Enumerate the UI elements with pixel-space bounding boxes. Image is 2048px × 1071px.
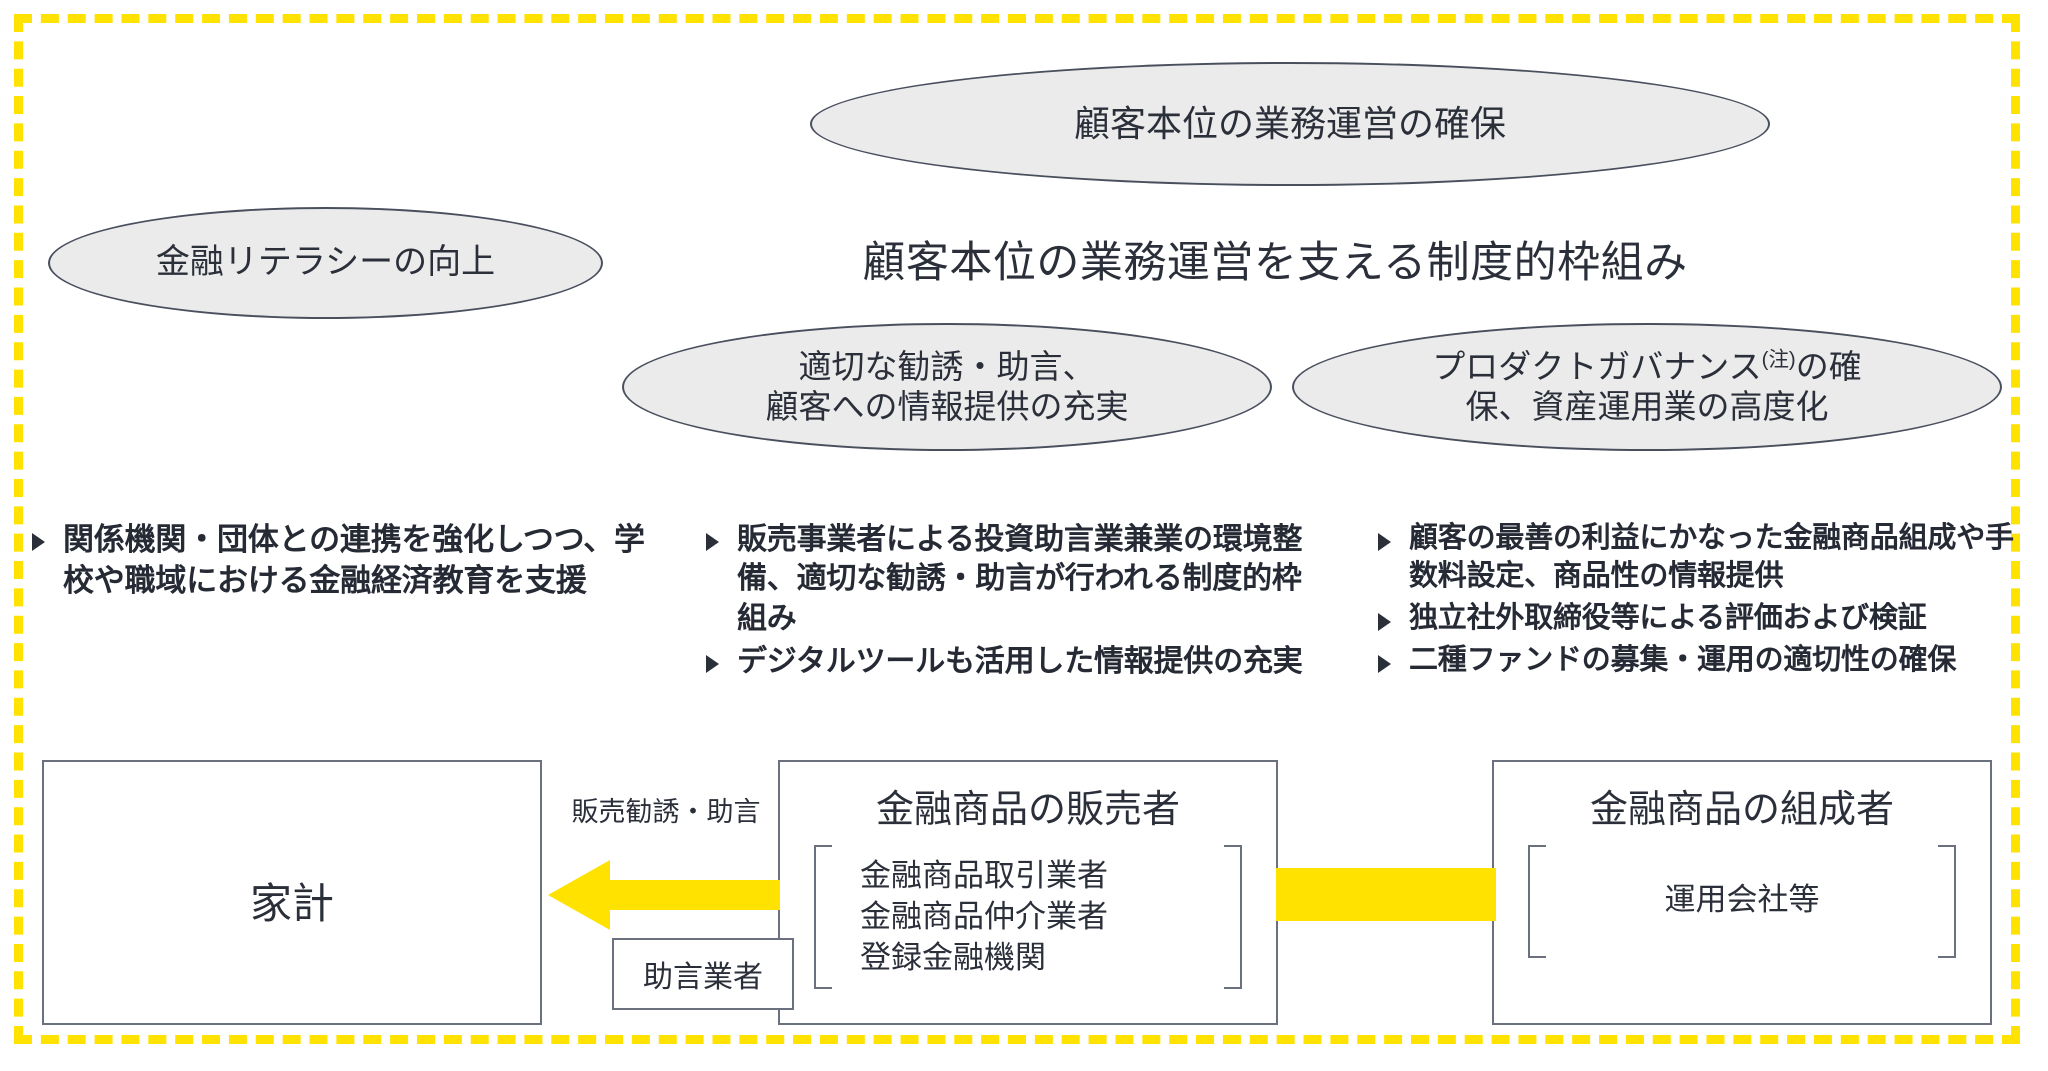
seller-entity-list: 金融商品取引業者 金融商品仲介業者 登録金融機関	[814, 855, 1242, 979]
list-item: 金融商品取引業者	[860, 855, 1242, 896]
ellipse-governance-line2: 保、資産運用業の高度化	[1466, 388, 1829, 425]
box-advisory-firm: 助言業者	[612, 938, 794, 1010]
bullet-column-solicitation: 販売事業者による投資助言業兼業の環境整備、適切な勧誘・助言が行われる制度的枠組み…	[706, 520, 1321, 685]
note-marker: (注)	[1762, 348, 1796, 371]
bullet-item: 二種ファンドの募集・運用の適切性の確保	[1378, 642, 2018, 680]
ellipse-advice-line1: 適切な勧誘・助言、	[799, 348, 1096, 385]
ellipse-financial-literacy: 金融リテラシーの向上	[48, 207, 603, 319]
list-item: 登録金融機関	[860, 937, 1242, 978]
triangle-bullet-icon	[706, 533, 719, 551]
triangle-bullet-icon	[32, 533, 45, 551]
bullet-text: 二種ファンドの募集・運用の適切性の確保	[1409, 642, 2018, 680]
ellipse-product-governance: プロダクトガバナンス(注)の確 保、資産運用業の高度化	[1292, 323, 2002, 451]
bullet-text: デジタルツールも活用した情報提供の充実	[737, 642, 1321, 681]
bullet-item: 関係機関・団体との連携を強化しつつ、学校や職域における金融経済教育を支援	[32, 520, 672, 601]
triangle-bullet-icon	[706, 655, 719, 673]
ellipse-advice-line2: 顧客への情報提供の充実	[766, 388, 1129, 425]
ellipse-literacy-label: 金融リテラシーの向上	[128, 242, 523, 283]
list-item: 運用会社等	[1528, 879, 1956, 920]
bullet-column-literacy: 関係機関・団体との連携を強化しつつ、学校や職域における金融経済教育を支援	[32, 520, 672, 605]
framework-heading: 顧客本位の業務運営を支える制度的枠組み	[770, 228, 1780, 290]
bracket-group-manufacturer: 運用会社等	[1528, 845, 1956, 958]
bullet-item: 独立社外取締役等による評価および検証	[1378, 600, 2018, 638]
triangle-bullet-icon	[1378, 655, 1391, 673]
ellipse-appropriate-solicitation: 適切な勧誘・助言、 顧客への情報提供の充実	[622, 323, 1272, 451]
bullet-item: 販売事業者による投資助言業兼業の環境整備、適切な勧誘・助言が行われる制度的枠組み	[706, 520, 1321, 638]
arrow-sales-solicitation-icon	[548, 856, 780, 934]
list-item: 金融商品仲介業者	[860, 896, 1242, 937]
ellipse-customer-first-assurance: 顧客本位の業務運営の確保	[810, 62, 1770, 186]
ellipse-governance-prefix: プロダクトガバナンス	[1432, 348, 1761, 385]
arrow-label-sales-solicitation: 販売勧誘・助言	[556, 790, 776, 829]
ellipse-governance-label: プロダクトガバナンス(注)の確 保、資産運用業の高度化	[1404, 347, 1889, 428]
ellipse-advice-label: 適切な勧誘・助言、 顧客への情報提供の充実	[738, 347, 1157, 428]
bullet-column-governance: 顧客の最善の利益にかなった金融商品組成や手数料設定、商品性の情報提供 独立社外取…	[1378, 520, 2018, 684]
bullet-text: 販売事業者による投資助言業兼業の環境整備、適切な勧誘・助言が行われる制度的枠組み	[737, 520, 1321, 638]
box-advisor-label: 助言業者	[643, 952, 763, 996]
ellipse-governance-suffix: の確	[1796, 348, 1862, 385]
box-seller-title: 金融商品の販売者	[780, 778, 1276, 833]
manufacturer-entity-list: 運用会社等	[1528, 879, 1956, 920]
box-household: 家計	[42, 760, 542, 1025]
arrow-product-supply-icon	[1276, 868, 1496, 921]
bracket-group-seller: 金融商品取引業者 金融商品仲介業者 登録金融機関	[814, 845, 1242, 989]
box-household-title: 家計	[250, 870, 334, 931]
box-manufacturer-title: 金融商品の組成者	[1494, 778, 1990, 833]
ellipse-top-label: 顧客本位の業務運営の確保	[1046, 102, 1534, 146]
box-financial-product-seller: 金融商品の販売者 金融商品取引業者 金融商品仲介業者 登録金融機関	[778, 760, 1278, 1025]
bullet-text: 独立社外取締役等による評価および検証	[1409, 600, 2018, 638]
triangle-bullet-icon	[1378, 613, 1391, 631]
bullet-text: 顧客の最善の利益にかなった金融商品組成や手数料設定、商品性の情報提供	[1409, 520, 2018, 596]
bullet-item: 顧客の最善の利益にかなった金融商品組成や手数料設定、商品性の情報提供	[1378, 520, 2018, 596]
box-financial-product-manufacturer: 金融商品の組成者 運用会社等	[1492, 760, 1992, 1025]
bullet-item: デジタルツールも活用した情報提供の充実	[706, 642, 1321, 681]
triangle-bullet-icon	[1378, 533, 1391, 551]
bullet-text: 関係機関・団体との連携を強化しつつ、学校や職域における金融経済教育を支援	[63, 520, 672, 601]
